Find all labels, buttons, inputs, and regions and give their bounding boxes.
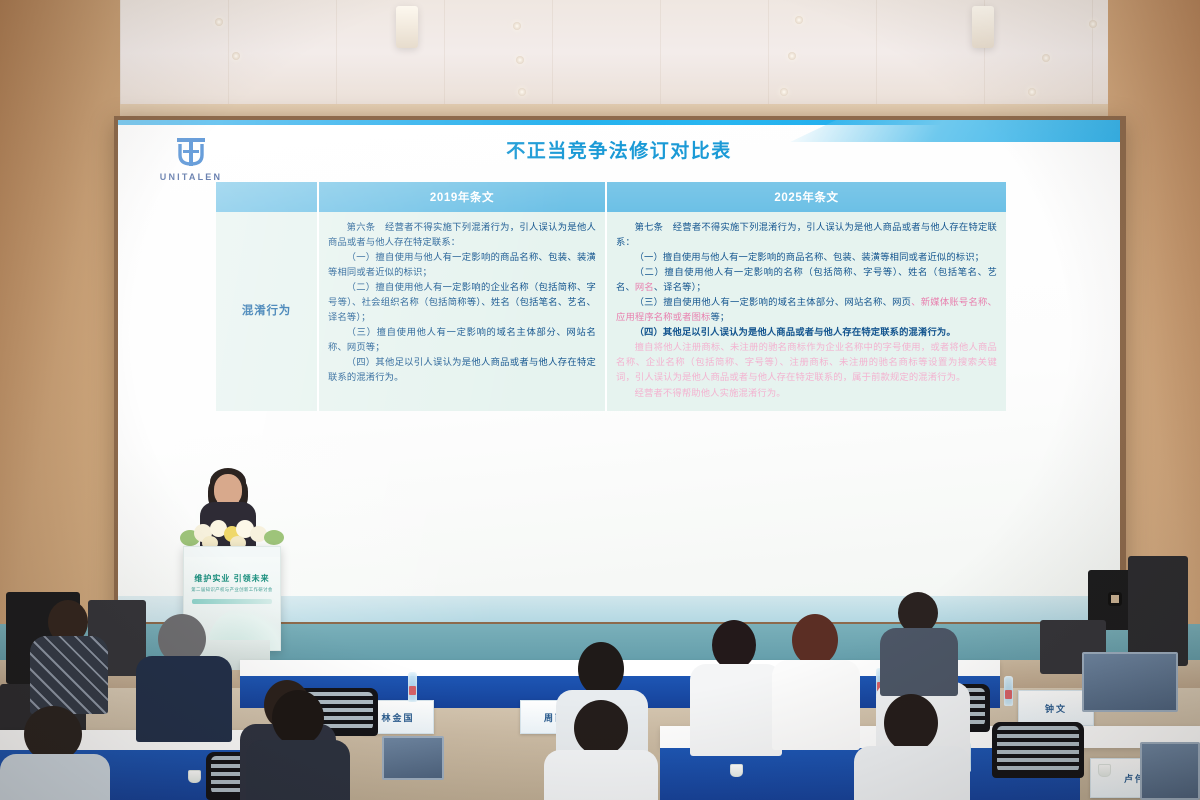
attendee <box>0 706 110 800</box>
ceiling-box-light <box>972 6 994 48</box>
ceiling-downlight <box>215 18 223 26</box>
laptop-screen <box>382 736 444 780</box>
attendee <box>30 600 108 710</box>
ceiling-downlight <box>1028 88 1036 96</box>
clause-2025-p4-a: （三）擅自使用他人有一定影响的域名主体部分、网站名称、网页 <box>635 297 912 307</box>
clause-2019-p5: （四）其他足以引人误认为是他人商品或者与他人存在特定联系的混淆行为。 <box>328 355 596 385</box>
attendee <box>772 614 860 744</box>
attendee <box>690 620 782 750</box>
clause-text-2025: 第七条 经营者不得实施下列混淆行为，引人误认为是他人商品或者与他人存在特定联系：… <box>616 220 997 401</box>
header-cell-blank <box>216 182 318 212</box>
ceiling-box-light <box>396 6 418 48</box>
attendee <box>136 614 232 734</box>
clause-2025-p7: 经营者不得帮助他人实施混淆行为。 <box>616 386 997 401</box>
paper-cup <box>730 764 743 777</box>
water-bottle <box>1004 676 1013 706</box>
row-label-confusion: 混淆行为 <box>216 212 318 411</box>
paper-cup <box>1098 764 1111 777</box>
comparison-table: 2019年条文 2025年条文 混淆行为 第六条 经营者不得实施下列混淆行为，引… <box>216 182 1006 411</box>
clause-2025-p1: 第七条 经营者不得实施下列混淆行为，引人误认为是他人商品或者与他人存在特定联系： <box>616 220 997 250</box>
clause-2019-p3: （二）擅自使用他人有一定影响的企业名称（包括简称、字号等）、社会组织名称（包括简… <box>328 280 596 325</box>
ceiling-downlight <box>1089 20 1097 28</box>
slide-title: 不正当竞争法修订对比表 <box>118 136 1120 163</box>
header-cell-2019: 2019年条文 <box>318 182 606 212</box>
clause-2025-p3-highlight: 网名 <box>635 282 654 292</box>
ceiling-downlight <box>795 16 803 24</box>
ceiling-downlight <box>513 22 521 30</box>
clause-2025-p4-b: 等； <box>710 312 729 322</box>
table-header-row: 2019年条文 2025年条文 <box>216 182 1006 212</box>
projector-lens <box>1108 592 1122 606</box>
cell-2025-clause: 第七条 经营者不得实施下列混淆行为，引人误认为是他人商品或者与他人存在特定联系：… <box>606 212 1006 411</box>
ceiling <box>120 0 1108 118</box>
attendee <box>880 592 958 688</box>
podium-headline: 维护实业 引领未来 <box>184 573 280 584</box>
clause-2025-p4: （三）擅自使用他人有一定影响的域名主体部分、网站名称、网页、新媒体账号名称、应用… <box>616 295 997 325</box>
chair <box>992 722 1084 778</box>
header-cell-2025: 2025年条文 <box>606 182 1006 212</box>
clause-2025-p3-b: 、译名等）； <box>654 282 706 292</box>
pa-speaker-right <box>1128 556 1188 666</box>
water-bottle <box>408 672 417 702</box>
podium-subline: 第二届知识产权与产业创新工作研讨会 <box>184 587 280 593</box>
clause-2025-p2: （一）擅自使用与他人有一定影响的商品名称、包装、装潢等相同或者近似的标识； <box>616 250 997 265</box>
clause-2025-p6: 擅自将他人注册商标、未注册的驰名商标作为企业名称中的字号使用，或者将他人商品名称… <box>616 340 997 385</box>
ceiling-downlight <box>518 88 526 96</box>
laptop-screen <box>1082 652 1178 712</box>
podium-top-strip <box>184 547 280 557</box>
conference-room-photo: UNITALEN 不正当竞争法修订对比表 2019年条文 2025年条文 混淆行… <box>0 0 1200 800</box>
ceiling-downlight <box>1042 54 1050 62</box>
attendee <box>854 694 970 800</box>
attendee <box>544 700 658 800</box>
clause-2019-p2: （一）擅自使用与他人有一定影响的商品名称、包装、装潢等相同或者近似的标识； <box>328 250 596 280</box>
clause-2025-p5: （四）其他足以引人误认为是他人商品或者与他人存在特定联系的混淆行为。 <box>616 325 997 340</box>
clause-2019-p4: （三）擅自使用他人有一定影响的域名主体部分、网站名称、网页等； <box>328 325 596 355</box>
laptop-screen <box>1140 742 1200 800</box>
clause-2025-p3: （二）擅自使用他人有一定影响的名称（包括简称、字号等）、姓名（包括笔名、艺名、网… <box>616 265 997 295</box>
ceiling-downlight <box>780 88 788 96</box>
cell-2019-clause: 第六条 经营者不得实施下列混淆行为，引人误认为是他人商品或者与他人存在特定联系：… <box>318 212 606 411</box>
ceiling-downlight <box>232 52 240 60</box>
ceiling-downlight <box>516 56 524 64</box>
clause-text-2019: 第六条 经营者不得实施下列混淆行为，引人误认为是他人商品或者与他人存在特定联系：… <box>328 220 596 386</box>
ceiling-downlight <box>788 52 796 60</box>
attendee <box>246 690 350 800</box>
logo-wordmark: UNITALEN <box>146 172 236 182</box>
paper-cup <box>188 770 201 783</box>
table-row: 混淆行为 第六条 经营者不得实施下列混淆行为，引人误认为是他人商品或者与他人存在… <box>216 212 1006 411</box>
podium-accent-bar <box>192 599 272 604</box>
chair-backrest-slats <box>997 726 1079 772</box>
clause-2019-p1: 第六条 经营者不得实施下列混淆行为，引人误认为是他人商品或者与他人存在特定联系： <box>328 220 596 250</box>
